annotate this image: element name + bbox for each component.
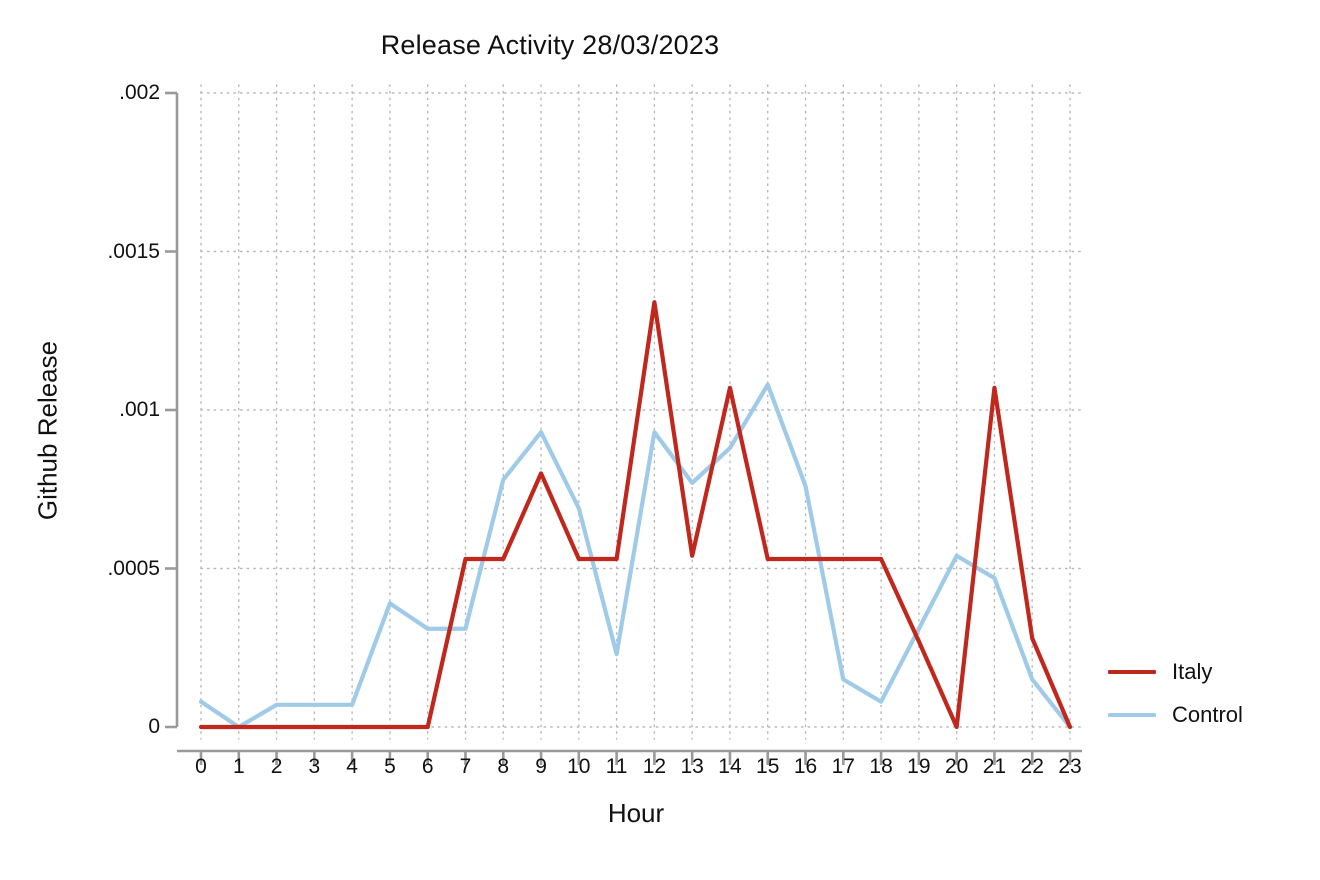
legend-color-swatch-icon [1108, 713, 1156, 717]
legend-entry[interactable]: Control [1108, 693, 1243, 736]
legend-color-swatch-icon [1108, 670, 1156, 674]
y-tick-label: .001 [70, 398, 160, 422]
chart-legend: ItalyControl [1108, 650, 1243, 736]
y-tick-label: .0005 [70, 557, 160, 581]
plot-area [0, 0, 1320, 880]
chart-container: Release Activity 28/03/2023 Github Relea… [0, 0, 1320, 880]
y-axis-tick-labels: 0.0005.001.0015.002 [60, 0, 160, 880]
y-tick-label: 0 [70, 715, 160, 739]
data-series-layer [201, 302, 1070, 727]
axis-lines [165, 93, 1082, 765]
x-tick-label: 23 [1040, 755, 1100, 779]
legend-label: Italy [1172, 659, 1212, 685]
x-axis-tick-labels: 01234567891011121314151617181920212223 [0, 755, 1320, 795]
grid-lines [201, 85, 1082, 739]
legend-label: Control [1172, 702, 1243, 728]
legend-entry[interactable]: Italy [1108, 650, 1243, 693]
series-line-italy [201, 302, 1070, 727]
y-tick-label: .002 [70, 81, 160, 105]
y-tick-label: .0015 [70, 240, 160, 264]
